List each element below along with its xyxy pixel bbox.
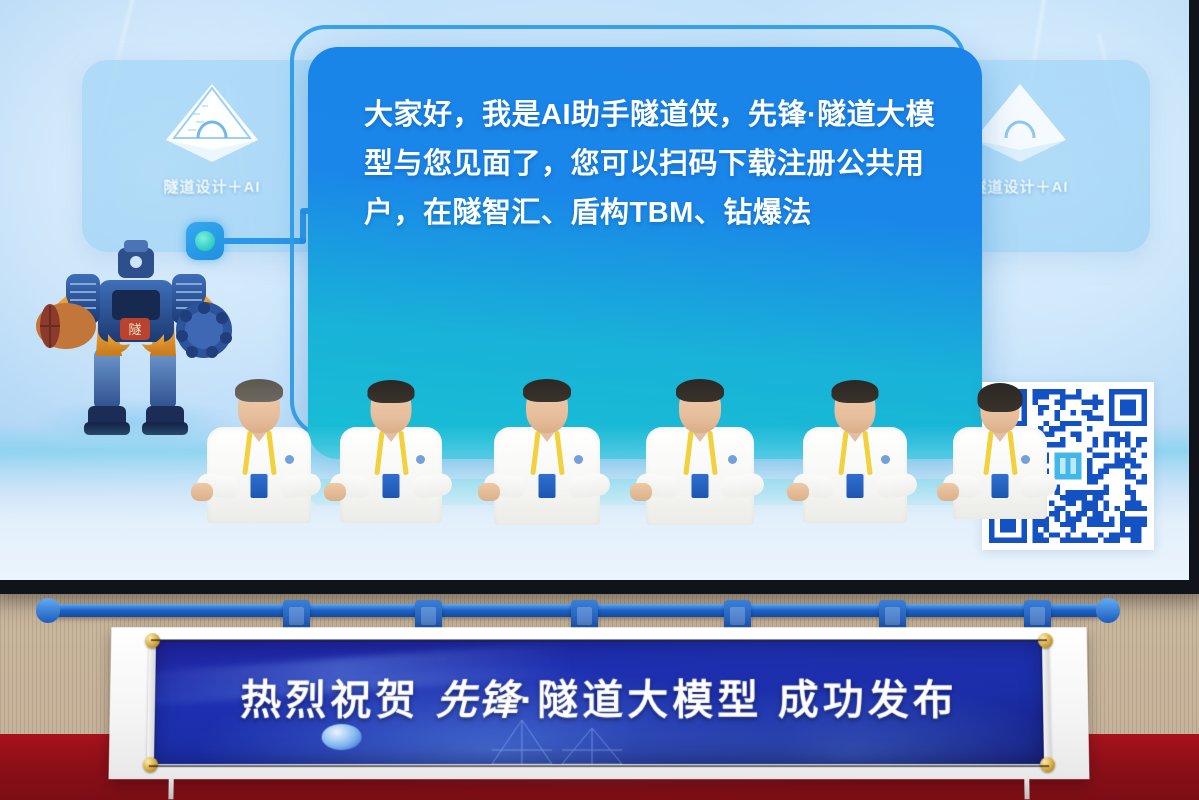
launch-ceremony-scene: 隧道设计＋AI 隧道设计＋AI (0, 0, 1199, 800)
presenter-shirt-logo (416, 455, 425, 464)
presenter-hand (630, 483, 652, 501)
presenter-arm-right (874, 472, 918, 500)
presenter-hair (832, 380, 879, 403)
presenter-shirt-logo (285, 455, 294, 464)
presenter-badge (538, 473, 557, 499)
presenter (189, 335, 329, 625)
presenter-arm-right (410, 472, 453, 499)
presenter (477, 335, 617, 625)
ai-assistant-dialog-text: 大家好，我是AI助手隧道侠，先锋·隧道大模型与您见面了，您可以扫码下载注册公共用… (364, 91, 942, 238)
presenter-shirt-logo (574, 455, 583, 464)
banner-text: 热烈祝贺 先锋·隧道大模型 成功发布 (152, 666, 1047, 726)
presenter (321, 335, 461, 625)
tunnel-pyramid-icon (158, 78, 266, 174)
presenter-hair (235, 379, 283, 402)
presenter-hair (978, 383, 1023, 412)
presenter (630, 335, 770, 625)
presenter-shirt-logo (1021, 455, 1030, 464)
presenter-hand (937, 483, 959, 501)
banner-edge-line (149, 765, 1049, 767)
presenter (785, 335, 925, 625)
svg-text:隧: 隧 (128, 322, 141, 338)
congratulations-banner: 热烈祝贺 先锋·隧道大模型 成功发布 (109, 627, 1090, 779)
presenter-badge (382, 473, 401, 499)
presenter-hand (478, 483, 500, 501)
presenter-hand (324, 483, 346, 501)
banner-rail-right (1042, 635, 1051, 771)
launch-bar-cap-left (36, 598, 60, 623)
presenter-shirt-logo (728, 455, 737, 464)
presenter-badge (846, 473, 865, 499)
presenter-hand (191, 483, 213, 501)
banner-stand-leg (1024, 777, 1029, 799)
presenter (930, 335, 1070, 625)
presenter-arm-right (1018, 472, 1058, 499)
banner-prefix: 热烈祝贺 (240, 677, 420, 723)
presenter-badge (991, 473, 1010, 499)
presenter-arm-right (278, 472, 322, 500)
banner-suffix: 成功发布 (778, 677, 958, 723)
presenter-shirt-logo (881, 455, 890, 464)
presenter-hair (368, 380, 415, 403)
banner-cloth: 热烈祝贺 先锋·隧道大模型 成功发布 (151, 640, 1047, 764)
presenter-badge (691, 473, 710, 499)
presenter-hair (676, 379, 724, 402)
banner-edge-line (151, 639, 1047, 641)
launch-bar-cap-right (1096, 598, 1120, 623)
presenter-badge (250, 473, 269, 499)
banner-orb (321, 724, 361, 750)
banner-stand-leg (168, 777, 173, 799)
presenter-hand (787, 483, 809, 501)
tunnel-pyramid-icon (966, 78, 1074, 174)
banner-middle: ·隧道大模型 (520, 677, 763, 723)
banner-brand: 先锋 (436, 676, 520, 724)
presenter-hair (523, 379, 571, 402)
